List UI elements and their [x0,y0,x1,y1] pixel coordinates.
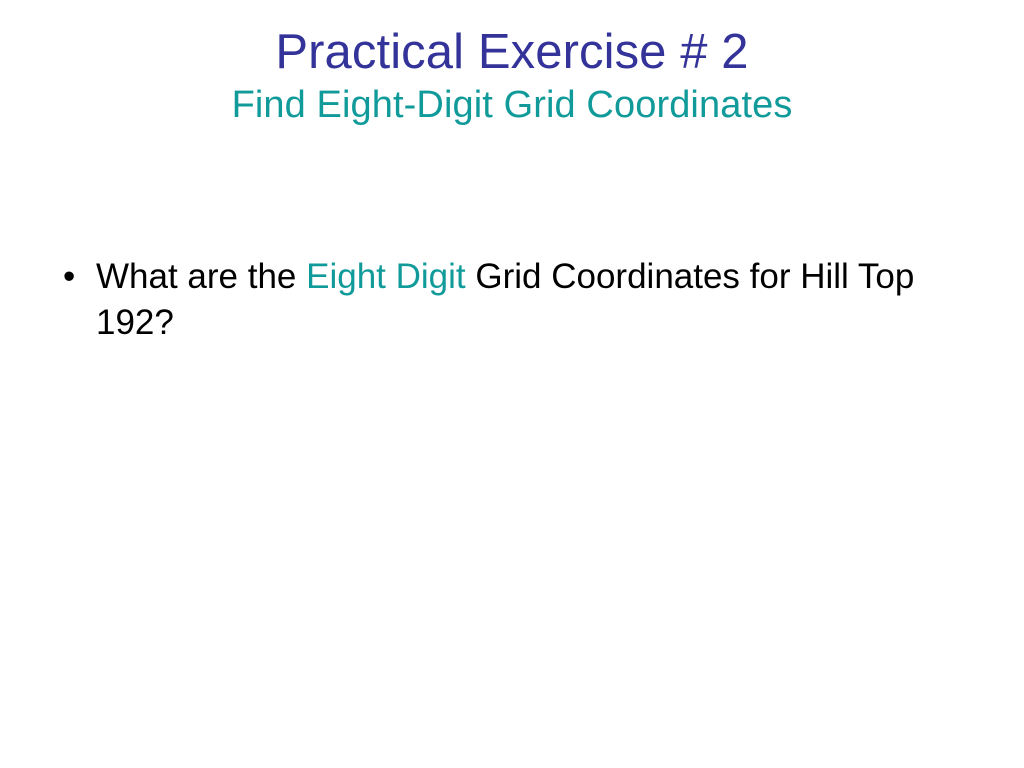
page-subtitle: Find Eight-Digit Grid Coordinates [0,84,1024,127]
list-item-text: What are the Eight Digit Grid Coordinate… [96,254,960,345]
slide-body-block: • What are the Eight Digit Grid Coordina… [60,254,960,345]
page-title: Practical Exercise # 2 [0,26,1024,79]
list-item: • What are the Eight Digit Grid Coordina… [60,254,960,345]
bullet-point-icon: • [63,254,83,300]
list-item-run-2-accent: Eight Digit [306,257,466,296]
slide-canvas: Practical Exercise # 2 Find Eight-Digit … [0,0,1024,768]
list-item-run-1: What are the [96,257,306,296]
slide-empty-content-area [0,400,1024,768]
slide-title-block: Practical Exercise # 2 Find Eight-Digit … [0,26,1024,126]
